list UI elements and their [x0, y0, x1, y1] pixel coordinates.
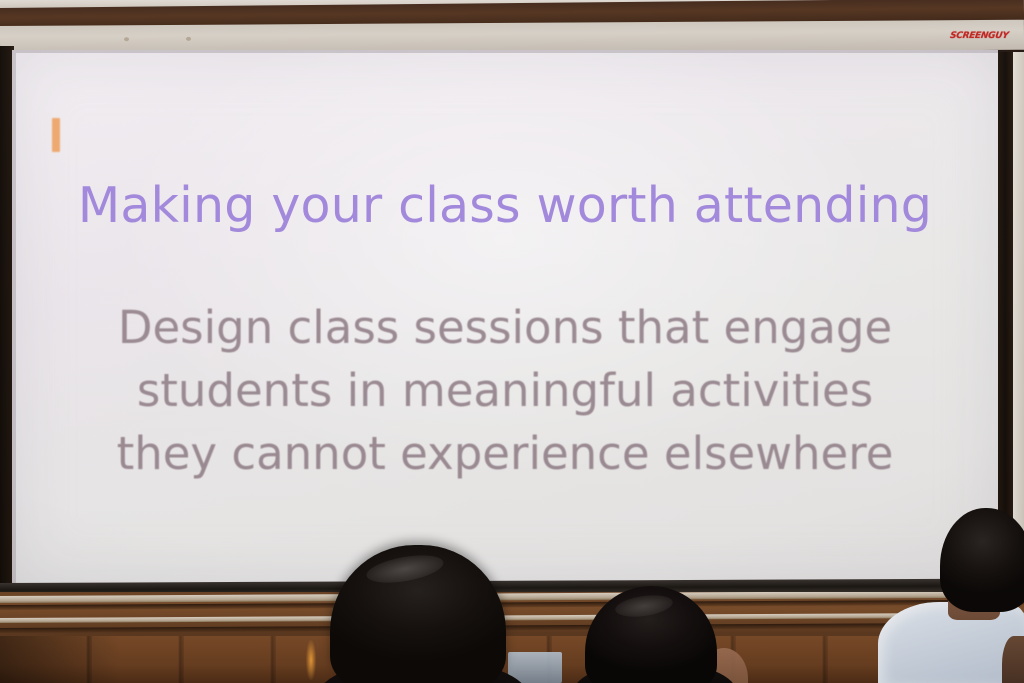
- hair-highlight: [614, 592, 674, 620]
- desk-light-glow: [306, 640, 316, 680]
- screen-brand-logo: SCREENGUY: [949, 31, 1009, 41]
- slide-title: Making your class worth attending: [12, 177, 998, 234]
- wall-trim-dark: [0, 623, 1024, 633]
- slide-body-line-1: Design class sessions that engage: [12, 296, 998, 359]
- housing-screw: [124, 37, 129, 41]
- housing-screw: [186, 37, 191, 41]
- person-right-head: [940, 508, 1024, 612]
- slide-body-line-2: students in meaningful activities: [12, 359, 998, 422]
- slide-body-line-3: they cannot experience elsewhere: [12, 422, 998, 485]
- wood-panel-shadow: [0, 636, 120, 683]
- hair-highlight: [365, 550, 446, 587]
- slide-body: Design class sessions that engage studen…: [12, 296, 998, 485]
- projection-screen-surface: Making your class worth attending Design…: [12, 50, 998, 590]
- person-far-right-shoulder: [1002, 636, 1024, 683]
- presentation-slide: Making your class worth attending Design…: [12, 50, 998, 590]
- lecture-hall-photo: SCREENGUY Making your class worth attend…: [0, 0, 1024, 683]
- wall-trim-light: [0, 613, 1024, 623]
- slide-accent-mark: [52, 118, 60, 152]
